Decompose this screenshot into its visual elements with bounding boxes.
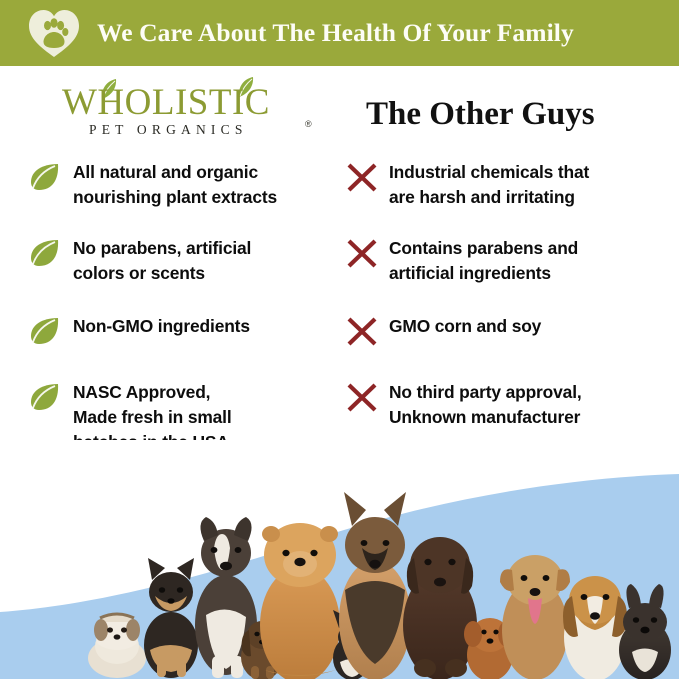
- drawback-text: GMO corn and soy: [389, 314, 665, 339]
- x-cross-icon: [345, 162, 379, 192]
- logo-tagline: PET ORGANICS: [89, 122, 248, 138]
- benefit-text: All natural and organic nourishing plant…: [73, 160, 338, 210]
- wholistic-pet-organics-logo: WHOLISTIC PET ORGANICS ®: [62, 78, 322, 140]
- drawback-text: Industrial chemicals that are harsh and …: [389, 160, 665, 210]
- drawback-text: Contains parabens and artificial ingredi…: [389, 236, 665, 286]
- benefit-text: No parabens, artificial colors or scents: [73, 236, 338, 286]
- dog-german-shepherd: [339, 492, 411, 679]
- leaf-icon: [28, 382, 62, 412]
- other-guys-item: Industrial chemicals that are harsh and …: [345, 160, 665, 210]
- dogs-illustration: [0, 440, 679, 679]
- logo-wordmark: WHOLISTIC: [62, 81, 270, 124]
- header-banner: We Care About The Health Of Your Family: [0, 0, 679, 66]
- dog-shih-tzu: [88, 613, 146, 678]
- leaf-icon: [28, 162, 62, 192]
- other-guys-item: Contains parabens and artificial ingredi…: [345, 236, 665, 286]
- x-cross-icon: [345, 316, 379, 346]
- wholistic-benefit-item: No parabens, artificial colors or scents: [28, 236, 338, 286]
- comparison-row: All natural and organic nourishing plant…: [0, 160, 679, 236]
- registered-trademark-symbol: ®: [305, 119, 312, 129]
- x-cross-icon: [345, 238, 379, 268]
- dog-shiba-inu: [144, 558, 198, 678]
- comparison-row: No parabens, artificial colors or scents…: [0, 236, 679, 314]
- dog-chow-chow: [260, 523, 340, 679]
- dog-chocolate-labrador: [403, 537, 477, 679]
- wholistic-benefit-item: Non-GMO ingredients: [28, 314, 338, 339]
- heart-paw-icon: [26, 6, 82, 60]
- group-of-dogs-photo: [0, 440, 679, 679]
- dog-beagle: [563, 576, 627, 679]
- dog-pit-bull-terrier: [500, 555, 570, 679]
- other-guys-item: GMO corn and soy: [345, 314, 665, 339]
- benefit-text: Non-GMO ingredients: [73, 314, 338, 339]
- comparison-rows: All natural and organic nourishing plant…: [0, 160, 679, 460]
- other-guys-item: No third party approval, Unknown manufac…: [345, 380, 665, 430]
- dog-french-bulldog: [619, 584, 671, 679]
- x-cross-icon: [345, 382, 379, 412]
- wholistic-benefit-item: All natural and organic nourishing plant…: [28, 160, 338, 210]
- comparison-row: Non-GMO ingredients GMO corn and soy: [0, 314, 679, 380]
- comparison-infographic: We Care About The Health Of Your Family …: [0, 0, 679, 679]
- leaf-icon: [28, 238, 62, 268]
- other-guys-heading: The Other Guys: [366, 96, 656, 133]
- banner-title: We Care About The Health Of Your Family: [97, 0, 574, 66]
- drawback-text: No third party approval, Unknown manufac…: [389, 380, 665, 430]
- leaf-icon: [28, 316, 62, 346]
